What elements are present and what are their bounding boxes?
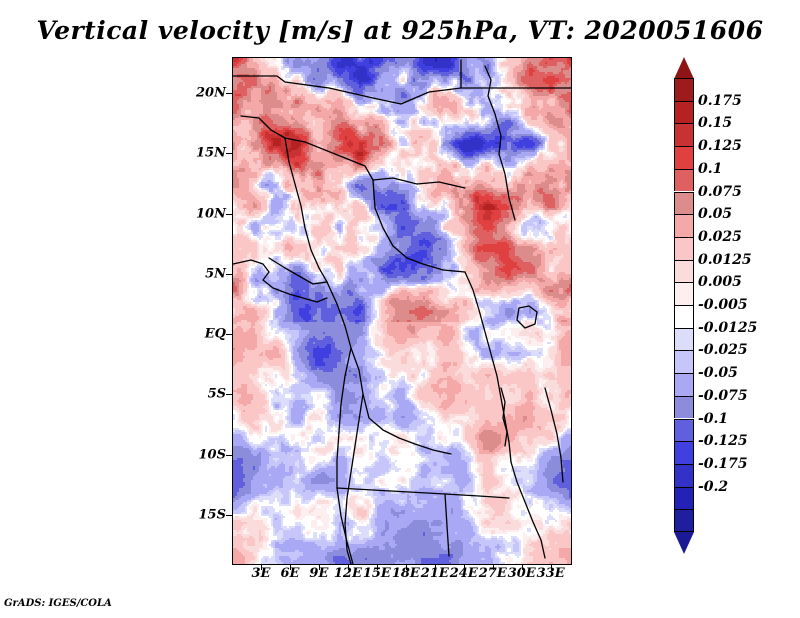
colorbar-tick-label: 0.175 [698,93,742,109]
colorbar-tick-label: 0.05 [698,206,732,222]
colorbar-band [674,169,694,192]
y-axis-tick-mark [226,274,232,275]
colorbar-band [674,464,694,487]
x-axis-tick-mark [319,564,320,570]
colorbar-tick-label: -0.05 [698,365,738,381]
y-axis-tick-mark [226,515,232,516]
colorbar-band [674,237,694,260]
y-axis-tick-label: 10N [196,206,226,221]
colorbar-bottom-arrow [674,532,694,554]
colorbar-band [674,192,694,215]
colorbar-band [674,282,694,305]
colorbar-tick-label: -0.005 [698,297,748,313]
colorbar-tick-label: 0.005 [698,274,742,290]
colorbar-tick-label: -0.025 [698,342,748,358]
country-borders-overlay [233,58,571,564]
colorbar-tick-label: 0.075 [698,184,742,200]
y-axis-tick-label: 5S [208,387,226,402]
colorbar-band [674,419,694,442]
y-axis-tick-label: EQ [205,327,226,342]
y-axis-tick-mark [226,455,232,456]
y-axis-tick-mark [226,334,232,335]
y-axis-tick-label: 5N [205,266,226,281]
colorbar-tick-label: 0.1 [698,161,722,177]
colorbar-tick-label: -0.0125 [698,320,757,336]
colorbar-band [674,509,694,532]
y-axis-tick-label: 10S [199,447,226,462]
y-axis-tick-label: 20N [196,86,226,101]
x-axis-tick-mark [464,564,465,570]
colorbar-band [674,396,694,419]
y-axis-tick-mark [226,93,232,94]
colorbar-band [674,78,694,101]
colorbar-band [674,328,694,351]
colorbar-band [674,441,694,464]
footer-credit: GrADS: IGES/COLA [4,598,112,609]
map-plot-area [232,57,572,565]
x-axis-tick-mark [261,564,262,570]
x-axis-tick-mark [290,564,291,570]
colorbar-band [674,305,694,328]
colorbar-band [674,373,694,396]
page-title: Vertical velocity [m/s] at 925hPa, VT: 2… [0,16,800,45]
colorbar-tick-label: 0.025 [698,229,742,245]
x-axis-tick-mark [406,564,407,570]
x-axis-tick-mark [522,564,523,570]
colorbar-top-arrow [674,57,694,79]
x-axis-tick-mark [551,564,552,570]
colorbar-tick-label: -0.125 [698,433,748,449]
colorbar-band [674,350,694,373]
colorbar-band [674,260,694,283]
colorbar-band [674,487,694,510]
colorbar-tick-label: -0.2 [698,479,728,495]
colorbar-band [674,146,694,169]
y-axis-tick-label: 15N [196,146,226,161]
y-axis-tick-mark [226,394,232,395]
x-axis-tick-mark [348,564,349,570]
colorbar-band [674,123,694,146]
x-axis-tick-mark [377,564,378,570]
colorbar-tick-label: -0.175 [698,456,748,472]
colorbar-tick-label: -0.075 [698,388,748,404]
x-axis-tick-mark [435,564,436,570]
colorbar-tick-label: 0.0125 [698,252,752,268]
colorbar-tick-label: 0.15 [698,115,732,131]
colorbar-band [674,101,694,124]
colorbar-tick-label: -0.1 [698,411,728,427]
colorbar-band [674,214,694,237]
colorbar-tick-label: 0.125 [698,138,742,154]
colorbar [674,78,694,532]
y-axis-tick-mark [226,153,232,154]
y-axis-tick-mark [226,214,232,215]
y-axis-tick-label: 15S [199,507,226,522]
x-axis-tick-mark [493,564,494,570]
